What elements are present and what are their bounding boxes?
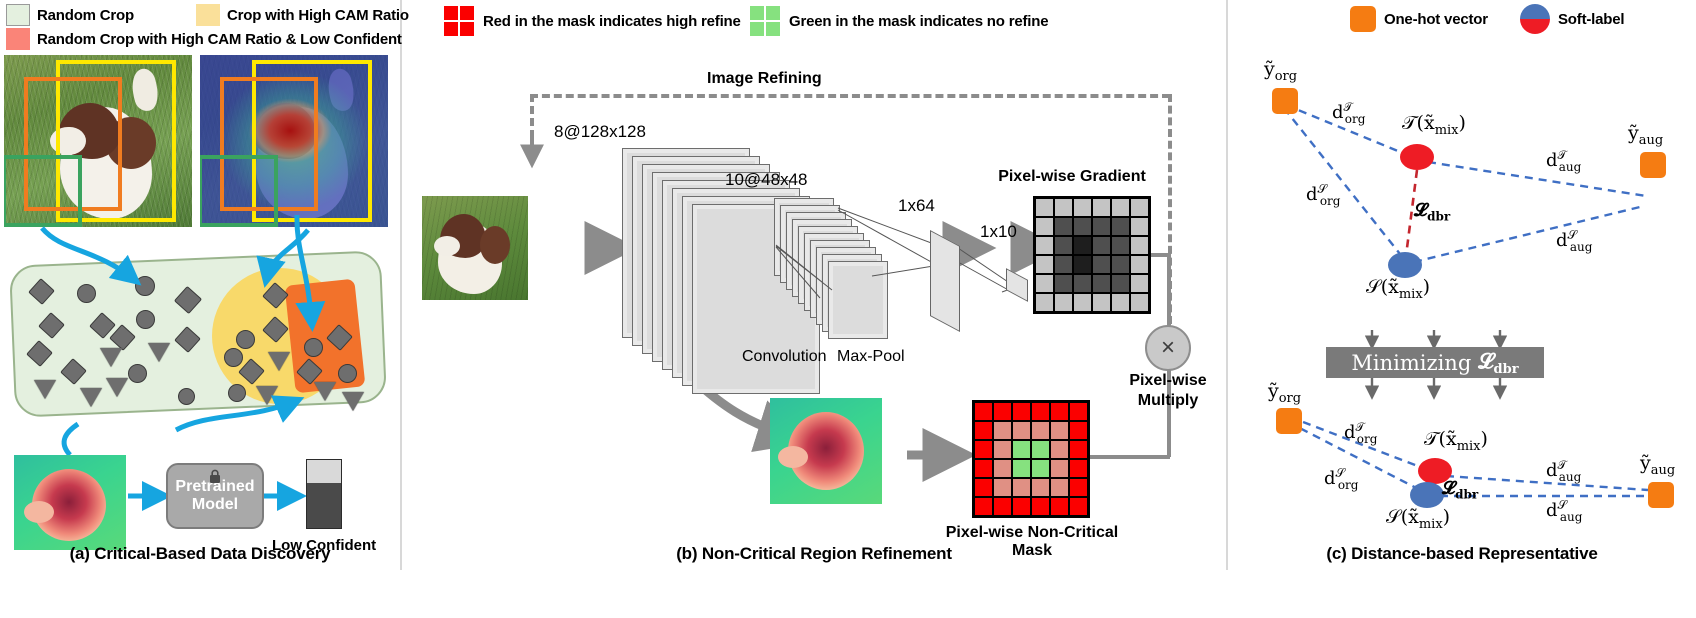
refining-dashed-left bbox=[530, 94, 534, 138]
sample-shape bbox=[148, 343, 170, 362]
legend-label-soft-label: Soft-label bbox=[1558, 11, 1624, 28]
panel-b-caption: (b) Non-Critical Region Refinement bbox=[402, 544, 1226, 564]
gradient-cell bbox=[1092, 255, 1111, 274]
gradient-cell bbox=[1130, 236, 1149, 255]
gradient-cell bbox=[1073, 255, 1092, 274]
mask-cell bbox=[1031, 459, 1050, 478]
gradient-cell bbox=[1035, 293, 1054, 312]
mask-cell bbox=[1012, 478, 1031, 497]
label-teacher-mix-top: 𝒯(x̃mix) bbox=[1402, 112, 1466, 138]
photo-dog-cam bbox=[200, 55, 388, 227]
gradient-cell bbox=[1073, 293, 1092, 312]
multiply-label-line2: Multiply bbox=[1108, 392, 1228, 410]
edge-d-aug-teacher bbox=[1428, 162, 1646, 196]
sample-shape-cam bbox=[256, 386, 278, 405]
gradient-cell bbox=[1054, 217, 1073, 236]
sample-shape-cam bbox=[236, 330, 255, 349]
mask-cell bbox=[1050, 459, 1069, 478]
fc1-slab bbox=[930, 230, 960, 332]
mask-cell bbox=[1012, 497, 1031, 516]
label-y-aug-top: ỹaug bbox=[1628, 122, 1663, 148]
edge-label-d-aug-teacher-top: d𝒯aug bbox=[1546, 148, 1581, 174]
bbox-green-random-crop-2 bbox=[200, 155, 278, 227]
sample-shape bbox=[135, 276, 155, 296]
minimizing-loss-bar: Minimizing 𝓛dbr bbox=[1326, 347, 1544, 378]
input-dog-patch bbox=[480, 226, 510, 264]
mask-cell bbox=[974, 402, 993, 421]
layer-label-fc1: 1x64 bbox=[898, 196, 935, 216]
label-y-org-top: ỹorg bbox=[1264, 58, 1297, 84]
gradient-cell bbox=[1111, 255, 1130, 274]
sample-shape bbox=[178, 388, 195, 405]
gradient-cell bbox=[1092, 198, 1111, 217]
gradient-cell bbox=[1092, 217, 1111, 236]
gradient-cell bbox=[1054, 255, 1073, 274]
sample-shape bbox=[136, 310, 155, 329]
legend-item-high-cam: Crop with High CAM Ratio bbox=[196, 4, 409, 26]
gradient-cell bbox=[1092, 236, 1111, 255]
edge-label-d-org-student-top: d𝒮org bbox=[1306, 182, 1340, 208]
cam-crop-snout bbox=[778, 446, 808, 468]
confidence-bar-top bbox=[307, 460, 341, 483]
gradient-cell bbox=[1130, 255, 1149, 274]
mask-cell bbox=[1069, 459, 1088, 478]
gradient-cell bbox=[1130, 274, 1149, 293]
mask-cell bbox=[1069, 421, 1088, 440]
node-y-org-top bbox=[1272, 88, 1298, 114]
sample-shape-lowconf bbox=[338, 364, 357, 383]
gradient-cell bbox=[1111, 217, 1130, 236]
arrow-lowconf-to-crop bbox=[64, 424, 78, 455]
mask-cell bbox=[993, 478, 1012, 497]
node-y-org-bottom bbox=[1276, 408, 1302, 434]
crop-dog-snout bbox=[24, 501, 54, 523]
mask-cell bbox=[974, 497, 993, 516]
legend-label-red-mask: Red in the mask indicates high refine bbox=[483, 13, 741, 30]
gradient-cell bbox=[1054, 274, 1073, 293]
gradient-cell bbox=[1035, 236, 1054, 255]
legend-item-low-confident: Random Crop with High CAM Ratio & Low Co… bbox=[6, 28, 402, 50]
legend-label-low-confident: Random Crop with High CAM Ratio & Low Co… bbox=[37, 31, 402, 48]
legend-swatch-red-mask bbox=[444, 6, 474, 36]
mask-cell bbox=[1069, 440, 1088, 459]
edge-label-d-org-teacher-top: d𝒯org bbox=[1332, 100, 1365, 126]
pixel-wise-gradient-grid bbox=[1033, 196, 1151, 314]
label-y-aug-bottom: ỹaug bbox=[1640, 452, 1675, 478]
mask-cell bbox=[974, 478, 993, 497]
legend-item-soft-label: Soft-label bbox=[1520, 4, 1624, 34]
panel-a-critical-based-data-discovery: Random Crop Crop with High CAM Ratio Ran… bbox=[0, 0, 400, 570]
mask-cell bbox=[1031, 421, 1050, 440]
sample-shape-lowconf bbox=[304, 338, 323, 357]
gradient-cell bbox=[1054, 198, 1073, 217]
layer-label-conv1: 8@128x128 bbox=[554, 122, 646, 142]
sample-shape-lowconf bbox=[342, 392, 364, 411]
mask-cell bbox=[1069, 497, 1088, 516]
legend-label-one-hot: One-hot vector bbox=[1384, 11, 1488, 28]
mask-cell bbox=[974, 421, 993, 440]
mask-cell bbox=[1031, 402, 1050, 421]
pretrained-model-line2: Model bbox=[192, 496, 238, 514]
gradient-cell bbox=[1073, 274, 1092, 293]
lock-icon bbox=[207, 468, 223, 484]
figure-root: Random Crop Crop with High CAM Ratio Ran… bbox=[0, 0, 1696, 618]
panel-c-caption: (c) Distance-based Representative bbox=[1228, 544, 1696, 564]
mask-cell bbox=[1050, 478, 1069, 497]
gradient-cell bbox=[1073, 217, 1092, 236]
minimizing-loss-symbol: 𝓛dbr bbox=[1478, 348, 1518, 377]
mask-cell bbox=[1012, 440, 1031, 459]
sample-shape bbox=[100, 348, 122, 367]
pipe-mask-to-multiply bbox=[1090, 455, 1170, 459]
confidence-bar bbox=[306, 459, 342, 529]
sample-shape bbox=[106, 378, 128, 397]
legend-label-high-cam: Crop with High CAM Ratio bbox=[227, 7, 409, 24]
sample-shape bbox=[128, 364, 147, 383]
gradient-cell bbox=[1073, 236, 1092, 255]
sample-shape bbox=[34, 380, 56, 399]
legend-item-one-hot: One-hot vector bbox=[1350, 6, 1488, 32]
label-teacher-mix-bottom: 𝒯(x̃mix) bbox=[1424, 428, 1488, 454]
mask-cell bbox=[1050, 402, 1069, 421]
mask-cell bbox=[1031, 478, 1050, 497]
node-y-aug-top bbox=[1640, 152, 1666, 178]
legend-item-green-mask: Green in the mask indicates no refine bbox=[750, 6, 1048, 36]
mask-cell bbox=[1050, 440, 1069, 459]
legend-label-green-mask: Green in the mask indicates no refine bbox=[789, 13, 1048, 30]
pretrained-model-box: Pretrained Model bbox=[166, 463, 264, 529]
photo-cropped-cam bbox=[14, 455, 126, 550]
mask-cell bbox=[1031, 497, 1050, 516]
mask-cell bbox=[974, 440, 993, 459]
fc2-slab bbox=[1006, 268, 1028, 302]
label-y-org-bottom: ỹorg bbox=[1268, 380, 1301, 406]
gradient-cell bbox=[1092, 293, 1111, 312]
layer-label-conv2: 10@48x48 bbox=[725, 170, 808, 190]
gradient-cell bbox=[1130, 293, 1149, 312]
mask-cell bbox=[1069, 478, 1088, 497]
gradient-cell bbox=[1073, 198, 1092, 217]
node-y-aug-bottom bbox=[1648, 482, 1674, 508]
sample-shape bbox=[77, 284, 96, 303]
node-teacher-mix-top bbox=[1400, 144, 1434, 170]
confidence-bar-bottom bbox=[307, 483, 341, 528]
gradient-cell bbox=[1035, 255, 1054, 274]
mask-cell bbox=[1069, 402, 1088, 421]
operation-label-convolution: Convolution bbox=[742, 348, 827, 366]
edge-label-d-aug-teacher-bottom: d𝒯aug bbox=[1546, 458, 1581, 484]
minimizing-label: Minimizing bbox=[1351, 351, 1471, 375]
gradient-cell bbox=[1130, 217, 1149, 236]
gradient-cell bbox=[1035, 274, 1054, 293]
mask-cell bbox=[993, 421, 1012, 440]
bbox-green-random-crop bbox=[4, 155, 82, 227]
mask-cell bbox=[1012, 402, 1031, 421]
multiply-label-line1: Pixel-wise bbox=[1108, 372, 1228, 390]
gradient-cell bbox=[1111, 236, 1130, 255]
mask-cell bbox=[1050, 421, 1069, 440]
sample-shape-cam bbox=[268, 352, 290, 371]
panel-a-caption: (a) Critical-Based Data Discovery bbox=[0, 544, 400, 564]
refining-dashed-top bbox=[530, 94, 1170, 98]
label-student-mix-top: 𝒮(x̃mix) bbox=[1366, 276, 1430, 302]
node-student-mix-bottom bbox=[1410, 482, 1444, 508]
photo-dog-original bbox=[4, 55, 192, 227]
gradient-cell bbox=[1111, 198, 1130, 217]
legend-swatch-low-confident bbox=[6, 28, 30, 50]
input-dog-snout bbox=[434, 236, 460, 256]
layer-label-fc2: 1x10 bbox=[980, 222, 1017, 242]
legend-item-random-crop: Random Crop bbox=[6, 4, 134, 26]
sample-shape-lowconf bbox=[314, 382, 336, 401]
legend-swatch-high-cam bbox=[196, 4, 220, 26]
edge-label-loss-dbr-bottom: 𝓛dbr bbox=[1442, 478, 1478, 502]
panel-b-non-critical-region-refinement: Red in the mask indicates high refine Gr… bbox=[402, 0, 1226, 570]
image-refining-label: Image Refining bbox=[707, 70, 822, 88]
panel-c-distance-based-representative: One-hot vector Soft-label ỹorg 𝒯(x̃mix) … bbox=[1228, 0, 1696, 570]
legend-label-random-crop: Random Crop bbox=[37, 7, 134, 24]
gradient-cell bbox=[1130, 198, 1149, 217]
sample-shape-cam bbox=[224, 348, 243, 367]
cam-crop-image bbox=[770, 398, 882, 504]
legend-swatch-one-hot bbox=[1350, 6, 1376, 32]
mask-cell bbox=[1031, 440, 1050, 459]
mask-cell bbox=[1012, 421, 1031, 440]
legend-item-red-mask: Red in the mask indicates high refine bbox=[444, 6, 741, 36]
multiply-symbol: × bbox=[1161, 334, 1175, 362]
edge-label-loss-dbr-top: 𝓛dbr bbox=[1414, 200, 1450, 224]
edge-label-d-org-teacher-bottom: d𝒯org bbox=[1344, 420, 1377, 446]
gradient-cell bbox=[1035, 198, 1054, 217]
feature-map bbox=[828, 261, 888, 339]
legend-swatch-green-mask bbox=[750, 6, 780, 36]
mask-cell bbox=[993, 459, 1012, 478]
mask-cell bbox=[1012, 459, 1031, 478]
edge-d-org-student bbox=[1284, 108, 1400, 254]
legend-swatch-soft-label bbox=[1520, 4, 1550, 34]
gradient-cell bbox=[1111, 293, 1130, 312]
gradient-cell bbox=[1035, 217, 1054, 236]
node-student-mix-top bbox=[1388, 252, 1422, 278]
mask-cell bbox=[993, 402, 1012, 421]
pixel-wise-multiply-node: × bbox=[1145, 325, 1191, 371]
label-student-mix-bottom: 𝒮(x̃mix) bbox=[1386, 506, 1450, 532]
mask-cell bbox=[993, 440, 1012, 459]
edge-label-d-org-student-bottom: d𝒮org bbox=[1324, 466, 1358, 492]
pixel-wise-gradient-title: Pixel-wise Gradient bbox=[972, 168, 1172, 186]
gradient-cell bbox=[1111, 274, 1130, 293]
pixel-wise-non-critical-mask-grid bbox=[972, 400, 1090, 518]
operation-label-max-pool: Max-Pool bbox=[837, 348, 905, 366]
mask-cell bbox=[993, 497, 1012, 516]
edge-label-d-aug-student-top: d𝒮aug bbox=[1556, 228, 1592, 254]
gradient-cell bbox=[1054, 236, 1073, 255]
gradient-cell bbox=[1054, 293, 1073, 312]
mask-cell bbox=[1050, 497, 1069, 516]
gradient-cell bbox=[1092, 274, 1111, 293]
edge-label-d-aug-student-bottom: d𝒮aug bbox=[1546, 498, 1582, 524]
mask-cell bbox=[974, 459, 993, 478]
sample-shape-cam bbox=[228, 384, 246, 402]
legend-swatch-random-crop bbox=[6, 4, 30, 26]
input-dog-image bbox=[422, 196, 528, 300]
sample-shape bbox=[80, 388, 102, 407]
